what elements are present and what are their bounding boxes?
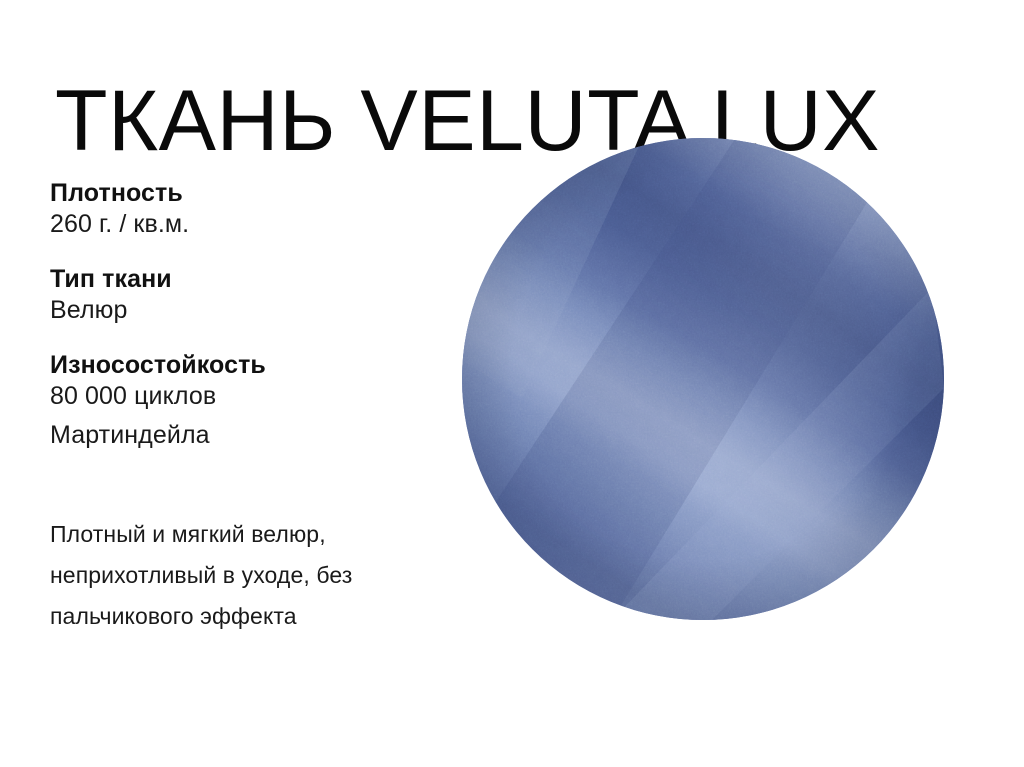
slide-root: ТКАНЬ VELUTA LUX Плотность 260 г. / кв.м… <box>0 0 1024 767</box>
spec-item-durability: Износостойкость 80 000 циклов Мартиндейл… <box>50 350 450 451</box>
spec-item-density: Плотность 260 г. / кв.м. <box>50 178 450 239</box>
spec-value-fabric-type: Велюр <box>50 295 450 326</box>
fabric-texture-graphic <box>462 138 944 620</box>
spec-value-density: 260 г. / кв.м. <box>50 209 450 240</box>
fabric-sample-image <box>462 138 944 620</box>
spec-value-durability-unit: Мартиндейла <box>50 420 450 451</box>
spec-label-durability: Износостойкость <box>50 350 450 381</box>
fabric-description: Плотный и мягкий велюр, неприхотливый в … <box>50 514 470 637</box>
spec-label-density: Плотность <box>50 178 450 209</box>
spec-item-fabric-type: Тип ткани Велюр <box>50 264 450 325</box>
spec-value-durability: 80 000 циклов <box>50 381 450 412</box>
spec-list: Плотность 260 г. / кв.м. Тип ткани Велюр… <box>50 178 450 451</box>
spec-label-fabric-type: Тип ткани <box>50 264 450 295</box>
